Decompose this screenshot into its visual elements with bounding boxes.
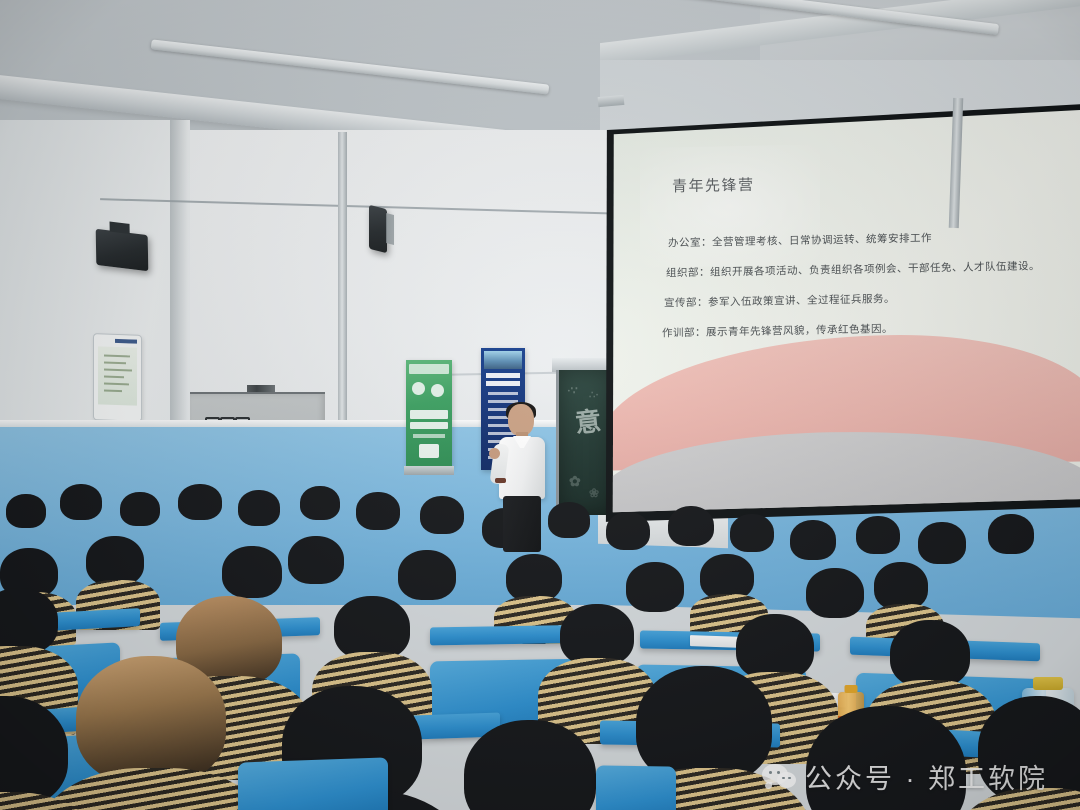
notebook-paper: [690, 635, 742, 648]
slide-bullet: 宣传部：参军入伍政策宣讲、全过程征兵服务。: [664, 288, 1068, 311]
notice-header-bar: [115, 339, 137, 344]
slide-bullet-list: 办公室：全营管理考核、日常协调运转、统筹安排工作 组织部：组织开展各项活动、负责…: [668, 228, 1068, 356]
slide-bullet: 组织部：组织开展各项活动、负责组织各项例会、干部任免、人才队伍建设。: [666, 258, 1068, 281]
banner-illustration: [412, 382, 446, 402]
notice-body: [98, 346, 137, 405]
poster-title-line: [486, 381, 520, 386]
slide-bullet: 作训部：展示青年先锋营风貌，传承红色基因。: [662, 318, 1068, 341]
speaker-bracket: [386, 213, 394, 245]
projection-screen: 青年先锋营 办公室：全营管理考核、日常协调运转、统筹安排工作 组织部：组织开展各…: [610, 108, 1080, 518]
banner-logo-strip: [409, 364, 449, 374]
presenter-hand: [489, 448, 500, 459]
banner-text-line: [413, 434, 445, 438]
poster-title-line: [486, 373, 520, 378]
speaker-presenter: [492, 404, 556, 552]
banner-subhead: [410, 422, 448, 429]
presenter-trousers: [503, 496, 541, 552]
wall-conduit-pipe: [338, 132, 347, 432]
banner-headline: [410, 410, 448, 419]
seat-back: [238, 757, 388, 810]
wall-speaker-center: [369, 205, 387, 253]
banner-footer-logo: [419, 444, 439, 458]
speaker-bracket: [110, 221, 130, 233]
poster-cityscape-photo: [484, 351, 522, 369]
green-standing-banner: [406, 360, 452, 468]
bottle-cap: [845, 685, 858, 693]
framed-wall-notice: [93, 333, 142, 422]
seat-back: [596, 765, 676, 810]
photo-scene: 意 ·∵ ∴· ✿ ❀ 青年先锋营 办公室：全营管理考核、日常协调运转、统筹安排…: [0, 0, 1080, 810]
presenter-watch: [495, 478, 506, 483]
jug-cap: [1033, 677, 1063, 690]
slide-title: 青年先锋营: [672, 174, 755, 197]
wall-speaker-left: [96, 229, 149, 271]
